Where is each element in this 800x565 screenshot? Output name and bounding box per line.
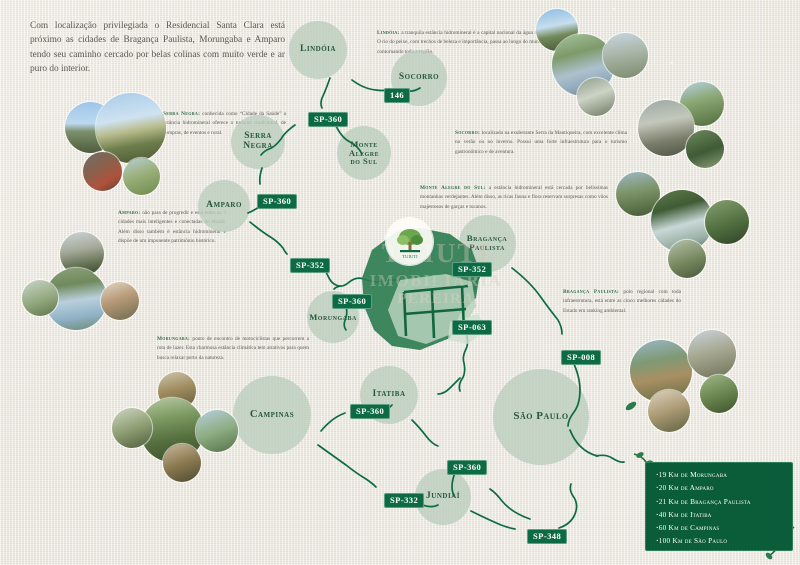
svg-text:TUIUTI: TUIUTI [402, 254, 418, 259]
map-infographic: Com localização privilegiada o Residenci… [0, 0, 800, 565]
photo-socorro-rio [686, 130, 724, 168]
photo-morungaba-lago [196, 410, 238, 452]
photo-braganca-verde [700, 375, 738, 413]
highway-shield-hw-sp352-amparo[interactable]: SP-352 [290, 258, 330, 273]
photo-amparo-campo [22, 280, 58, 316]
highway-shield-hw-sp360-center[interactable]: SP-360 [332, 294, 372, 309]
photo-monte-alegre-verde [705, 200, 749, 244]
photo-campo [123, 158, 160, 195]
highway-shield-hw-sp360-serra[interactable]: SP-360 [257, 194, 297, 209]
photo-morungaba-banco [163, 444, 201, 482]
photo-amparo-casarao [101, 282, 139, 320]
distance-legend-list: 19 Km de Morungaba20 Km de Amparo21 Km d… [656, 468, 788, 548]
legend-item-0: 19 Km de Morungaba [656, 468, 788, 481]
legend-item-4: 60 Km de Campinas [656, 521, 788, 534]
highway-shield-hw-sp352-braganca[interactable]: SP-352 [452, 262, 492, 277]
photo-igreja-lindoia [577, 78, 615, 116]
photo-braganca-centro [688, 330, 736, 378]
highway-shield-hw-sp360-north[interactable]: SP-360 [308, 112, 348, 127]
photo-morungaba-rua [112, 408, 152, 448]
photo-cidade-lindoia [603, 33, 648, 78]
highway-shield-hw-sp008[interactable]: SP-008 [561, 350, 601, 365]
photo-motos [83, 152, 122, 191]
highway-shield-hw-sp063[interactable]: SP-063 [452, 320, 492, 335]
highway-shield-hw-146-lindoia[interactable]: 146 [384, 88, 410, 103]
highway-shield-hw-sp348[interactable]: SP-348 [527, 529, 567, 544]
tree-emblem-icon: TUIUTI [391, 223, 429, 261]
legend-item-5: 100 Km de São Paulo [656, 534, 788, 547]
highway-shield-hw-sp332[interactable]: SP-332 [384, 493, 424, 508]
legend-item-3: 40 Km de Itatiba [656, 508, 788, 521]
emblem-badge: TUIUTI [386, 218, 433, 265]
highway-shield-hw-sp360-jundiai[interactable]: SP-360 [447, 460, 487, 475]
photo-monte-alegre-casa [668, 240, 706, 278]
distance-legend-box: 19 Km de Morungaba20 Km de Amparo21 Km d… [645, 462, 793, 551]
legend-item-1: 20 Km de Amparo [656, 481, 788, 494]
legend-item-2: 21 Km de Bragança Paulista [656, 495, 788, 508]
photo-braganca-igreja [648, 390, 690, 432]
highway-shield-hw-sp360-itatiba[interactable]: SP-360 [350, 404, 390, 419]
